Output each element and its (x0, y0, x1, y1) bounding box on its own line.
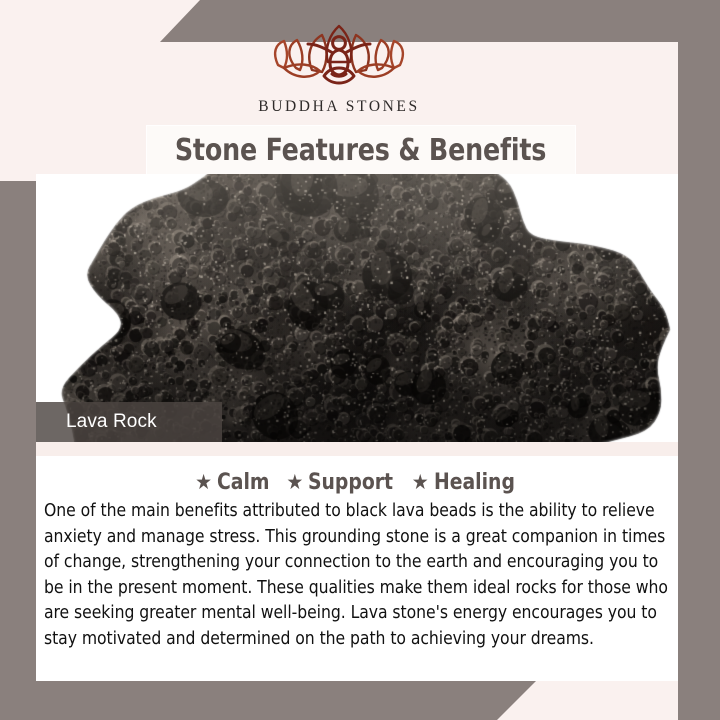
stone-name-label: Lava Rock (36, 402, 222, 442)
lotus-meditation-figure-icon (254, 18, 424, 96)
description-text: One of the main benefits attributed to b… (44, 499, 670, 653)
star-icon: ★ (412, 472, 429, 493)
stone-name-text: Lava Rock (66, 411, 157, 433)
divider-strip (36, 442, 678, 456)
benefit-label: Support (308, 470, 393, 495)
benefit-item-healing: ★Healing (412, 470, 519, 495)
benefit-keyword-row: ★Calm★Support★Healing (36, 456, 678, 495)
infographic-page: BUDDHA STONES Stone Features & Benefits … (0, 0, 720, 720)
benefit-item-calm: ★Calm (195, 470, 272, 495)
frame-bar-bottom (0, 680, 720, 720)
page-title: Stone Features & Benefits (175, 133, 546, 168)
benefit-label: Healing (434, 470, 515, 495)
star-icon: ★ (195, 472, 212, 493)
star-icon: ★ (286, 472, 303, 493)
brand-logo: BUDDHA STONES (0, 18, 678, 128)
frame-bar-right (678, 0, 720, 720)
title-banner: Stone Features & Benefits (147, 126, 575, 174)
brand-name: BUDDHA STONES (258, 98, 419, 116)
benefit-item-support: ★Support (286, 470, 397, 495)
stone-photo: Lava Rock (36, 174, 678, 442)
benefits-card: ★Calm★Support★Healing One of the main be… (36, 456, 678, 681)
frame-bar-left (0, 181, 36, 720)
benefit-label: Calm (217, 470, 270, 495)
